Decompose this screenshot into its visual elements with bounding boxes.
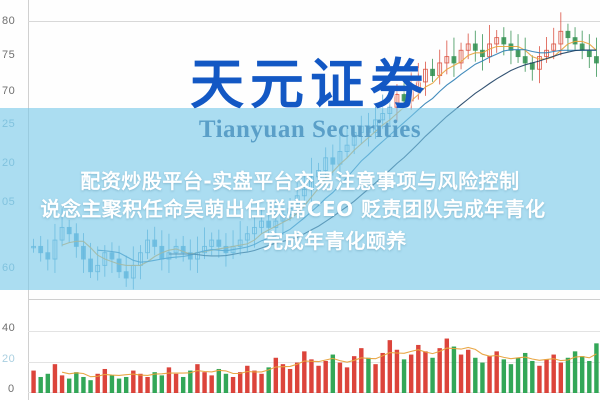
overlay-band	[0, 108, 600, 290]
ytick-label-1: 75	[2, 49, 15, 61]
banner-canvas: 80 75 70 25 20 05 60 40 20 0 天元证券 Tianyu…	[0, 0, 600, 400]
ytick-label-0: 80	[2, 15, 15, 27]
ytick-label-8: 20	[2, 353, 15, 365]
ytick-label-2: 70	[2, 85, 15, 97]
ytick-label-9: 0	[8, 383, 15, 395]
ytick-label-7: 40	[2, 322, 15, 334]
